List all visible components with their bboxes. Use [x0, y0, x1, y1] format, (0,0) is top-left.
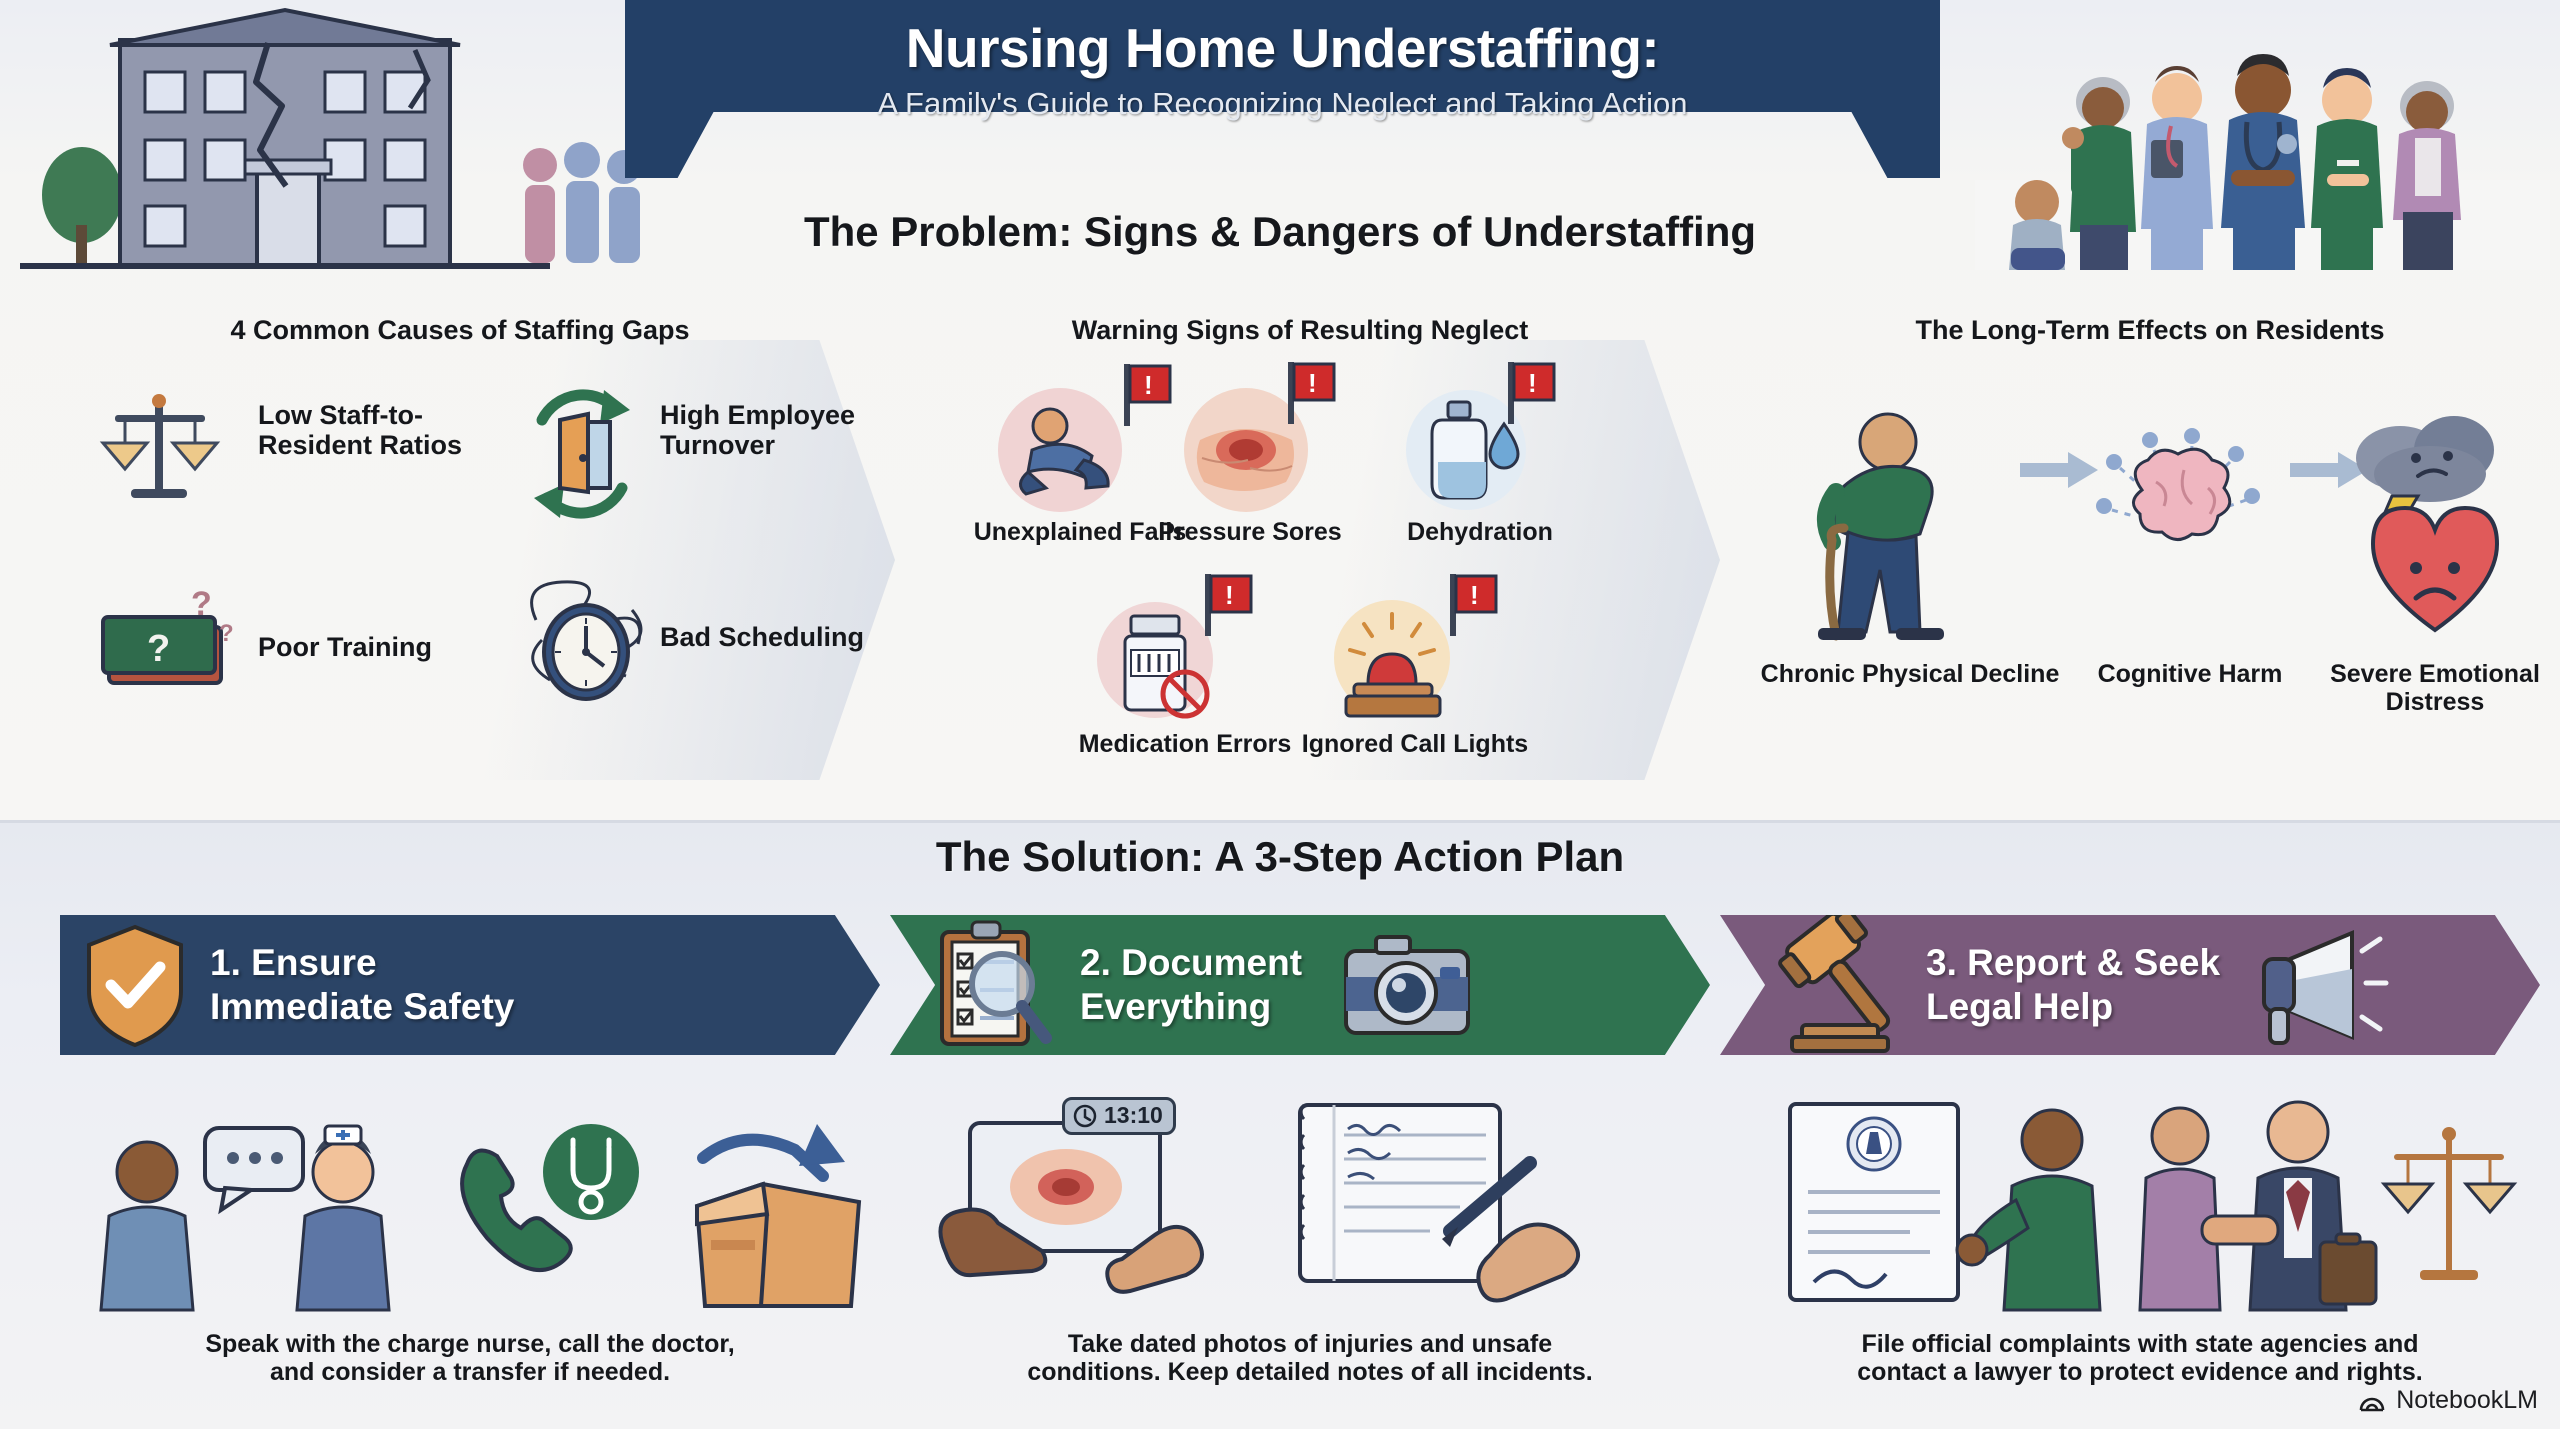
step-banner-1[interactable]: 1. Ensure Immediate Safety — [60, 915, 880, 1055]
pill-bottle-icon: ! — [1085, 598, 1245, 728]
cause-label-0: Low Staff-to-Resident Ratios — [258, 400, 488, 460]
cause-label-1: High Employee Turnover — [660, 400, 890, 460]
step-3-caption-line1: File official complaints with state agen… — [1730, 1330, 2550, 1358]
step-2-illustration: 13:10 — [930, 1105, 1690, 1310]
svg-text:!: ! — [1144, 370, 1153, 400]
stooped-elder-cane-icon — [1790, 400, 1990, 645]
effect-label-1: Cognitive Harm — [2080, 660, 2300, 688]
skin-sore-icon: ! — [1180, 388, 1330, 513]
svg-text:!: ! — [1308, 368, 1317, 398]
revolving-door-icon — [512, 380, 652, 530]
step-3-caption: File official complaints with state agen… — [1730, 1330, 2550, 1386]
step-2-line2: Everything — [1080, 985, 1302, 1029]
step-2-label: 2. Document Everything — [1080, 941, 1302, 1028]
problem-section-heading: The Problem: Signs & Dangers of Understa… — [0, 208, 2560, 256]
column-heading-effects: The Long-Term Effects on Residents — [1800, 315, 2500, 346]
family-member-icon — [1957, 1110, 2100, 1310]
red-flag-icon: ! — [1504, 360, 1562, 426]
step-3-caption-line2: contact a lawyer to protect evidence and… — [1730, 1358, 2550, 1386]
step-3-label: 3. Report & Seek Legal Help — [1926, 941, 2220, 1028]
step-2-caption-line2: conditions. Keep detailed notes of all i… — [900, 1358, 1720, 1386]
step-2-caption: Take dated photos of injuries and unsafe… — [900, 1330, 1720, 1386]
phone-stethoscope-icon — [462, 1124, 639, 1270]
notebooklm-label: NotebookLM — [2396, 1386, 2538, 1415]
moving-box-arrow-icon — [697, 1124, 859, 1306]
official-document-icon — [1790, 1104, 1958, 1300]
step-2-line1: 2. Document — [1080, 941, 1302, 985]
step-3-line2: Legal Help — [1926, 985, 2220, 1029]
step-3-line1: 3. Report & Seek — [1926, 941, 2220, 985]
sad-heart-storm-icon — [2330, 400, 2540, 640]
svg-text:!: ! — [1470, 580, 1479, 610]
warning-label-1: Pressure Sores — [1150, 518, 1350, 546]
svg-text:!: ! — [1225, 580, 1234, 610]
warning-label-2: Dehydration — [1370, 518, 1590, 546]
step-1-caption-line2: and consider a transfer if needed. — [60, 1358, 880, 1386]
megaphone-icon — [2254, 925, 2386, 1045]
step-3-illustration — [1780, 1100, 2540, 1310]
page-subtitle: A Family's Guide to Recognizing Neglect … — [877, 86, 1687, 122]
cause-label-3: Bad Scheduling — [660, 622, 890, 652]
step-banner-3[interactable]: 3. Report & Seek Legal Help — [1720, 915, 2540, 1055]
red-flag-icon: ! — [1120, 362, 1178, 428]
effect-label-2: Severe Emotional Distress — [2290, 660, 2560, 716]
red-flag-icon: ! — [1201, 572, 1259, 638]
warning-label-4: Ignored Call Lights — [1300, 730, 1530, 758]
svg-text:?: ? — [219, 620, 234, 647]
step-1-line2: Immediate Safety — [210, 985, 514, 1029]
page-title: Nursing Home Understaffing: — [906, 16, 1659, 80]
notebook-pen-icon — [1300, 1105, 1578, 1301]
photo-timestamp-badge: 13:10 — [1062, 1097, 1176, 1135]
infographic-page: Nursing Home Understaffing: A Family's G… — [0, 0, 2560, 1429]
camera-icon — [1342, 931, 1472, 1039]
column-heading-causes: 4 Common Causes of Staffing Gaps — [150, 315, 770, 346]
column-heading-warnings: Warning Signs of Resulting Neglect — [990, 315, 1610, 346]
step-2-caption-line1: Take dated photos of injuries and unsafe — [900, 1330, 1720, 1358]
step-1-caption: Speak with the charge nurse, call the do… — [60, 1330, 880, 1386]
hands-phone-photo-icon — [940, 1123, 1202, 1292]
red-flag-icon: ! — [1284, 360, 1342, 426]
shield-check-icon — [60, 923, 210, 1047]
notebooklm-icon — [2357, 1385, 2387, 1415]
scales-icon — [95, 385, 225, 515]
title-block: Nursing Home Understaffing: A Family's G… — [625, 0, 1940, 178]
effect-label-0: Chronic Physical Decline — [1760, 660, 2060, 688]
cause-label-2: Poor Training — [258, 632, 488, 662]
speech-bubble-icon — [205, 1128, 303, 1210]
notebooklm-watermark: NotebookLM — [2357, 1385, 2538, 1415]
step-1-line1: 1. Ensure — [210, 941, 514, 985]
scales-icon — [2384, 1127, 2514, 1280]
warning-label-3: Medication Errors — [1075, 730, 1295, 758]
clock-icon — [1073, 1104, 1097, 1128]
red-flag-icon: ! — [1446, 572, 1504, 638]
svg-text:?: ? — [147, 628, 170, 670]
step-1-label: 1. Ensure Immediate Safety — [210, 941, 514, 1028]
handshake-icon — [2140, 1102, 2376, 1310]
brain-icon — [2080, 410, 2280, 590]
timestamp-value: 13:10 — [1104, 1102, 1163, 1129]
book-question-icon: ? ? ? — [95, 585, 245, 705]
fallen-person-icon: ! — [988, 388, 1168, 513]
step-1-caption-line1: Speak with the charge nurse, call the do… — [60, 1330, 880, 1358]
call-light-icon: ! — [1320, 598, 1490, 728]
nurse-icon — [297, 1126, 389, 1310]
tangled-clock-icon — [512, 570, 662, 715]
svg-text:!: ! — [1528, 368, 1537, 398]
step-1-illustration — [75, 1110, 875, 1310]
svg-text:?: ? — [191, 585, 212, 623]
step-banner-2[interactable]: 2. Document Everything — [890, 915, 1710, 1055]
solution-section-heading: The Solution: A 3-Step Action Plan — [0, 833, 2560, 881]
water-bottle-icon: ! — [1400, 388, 1550, 513]
